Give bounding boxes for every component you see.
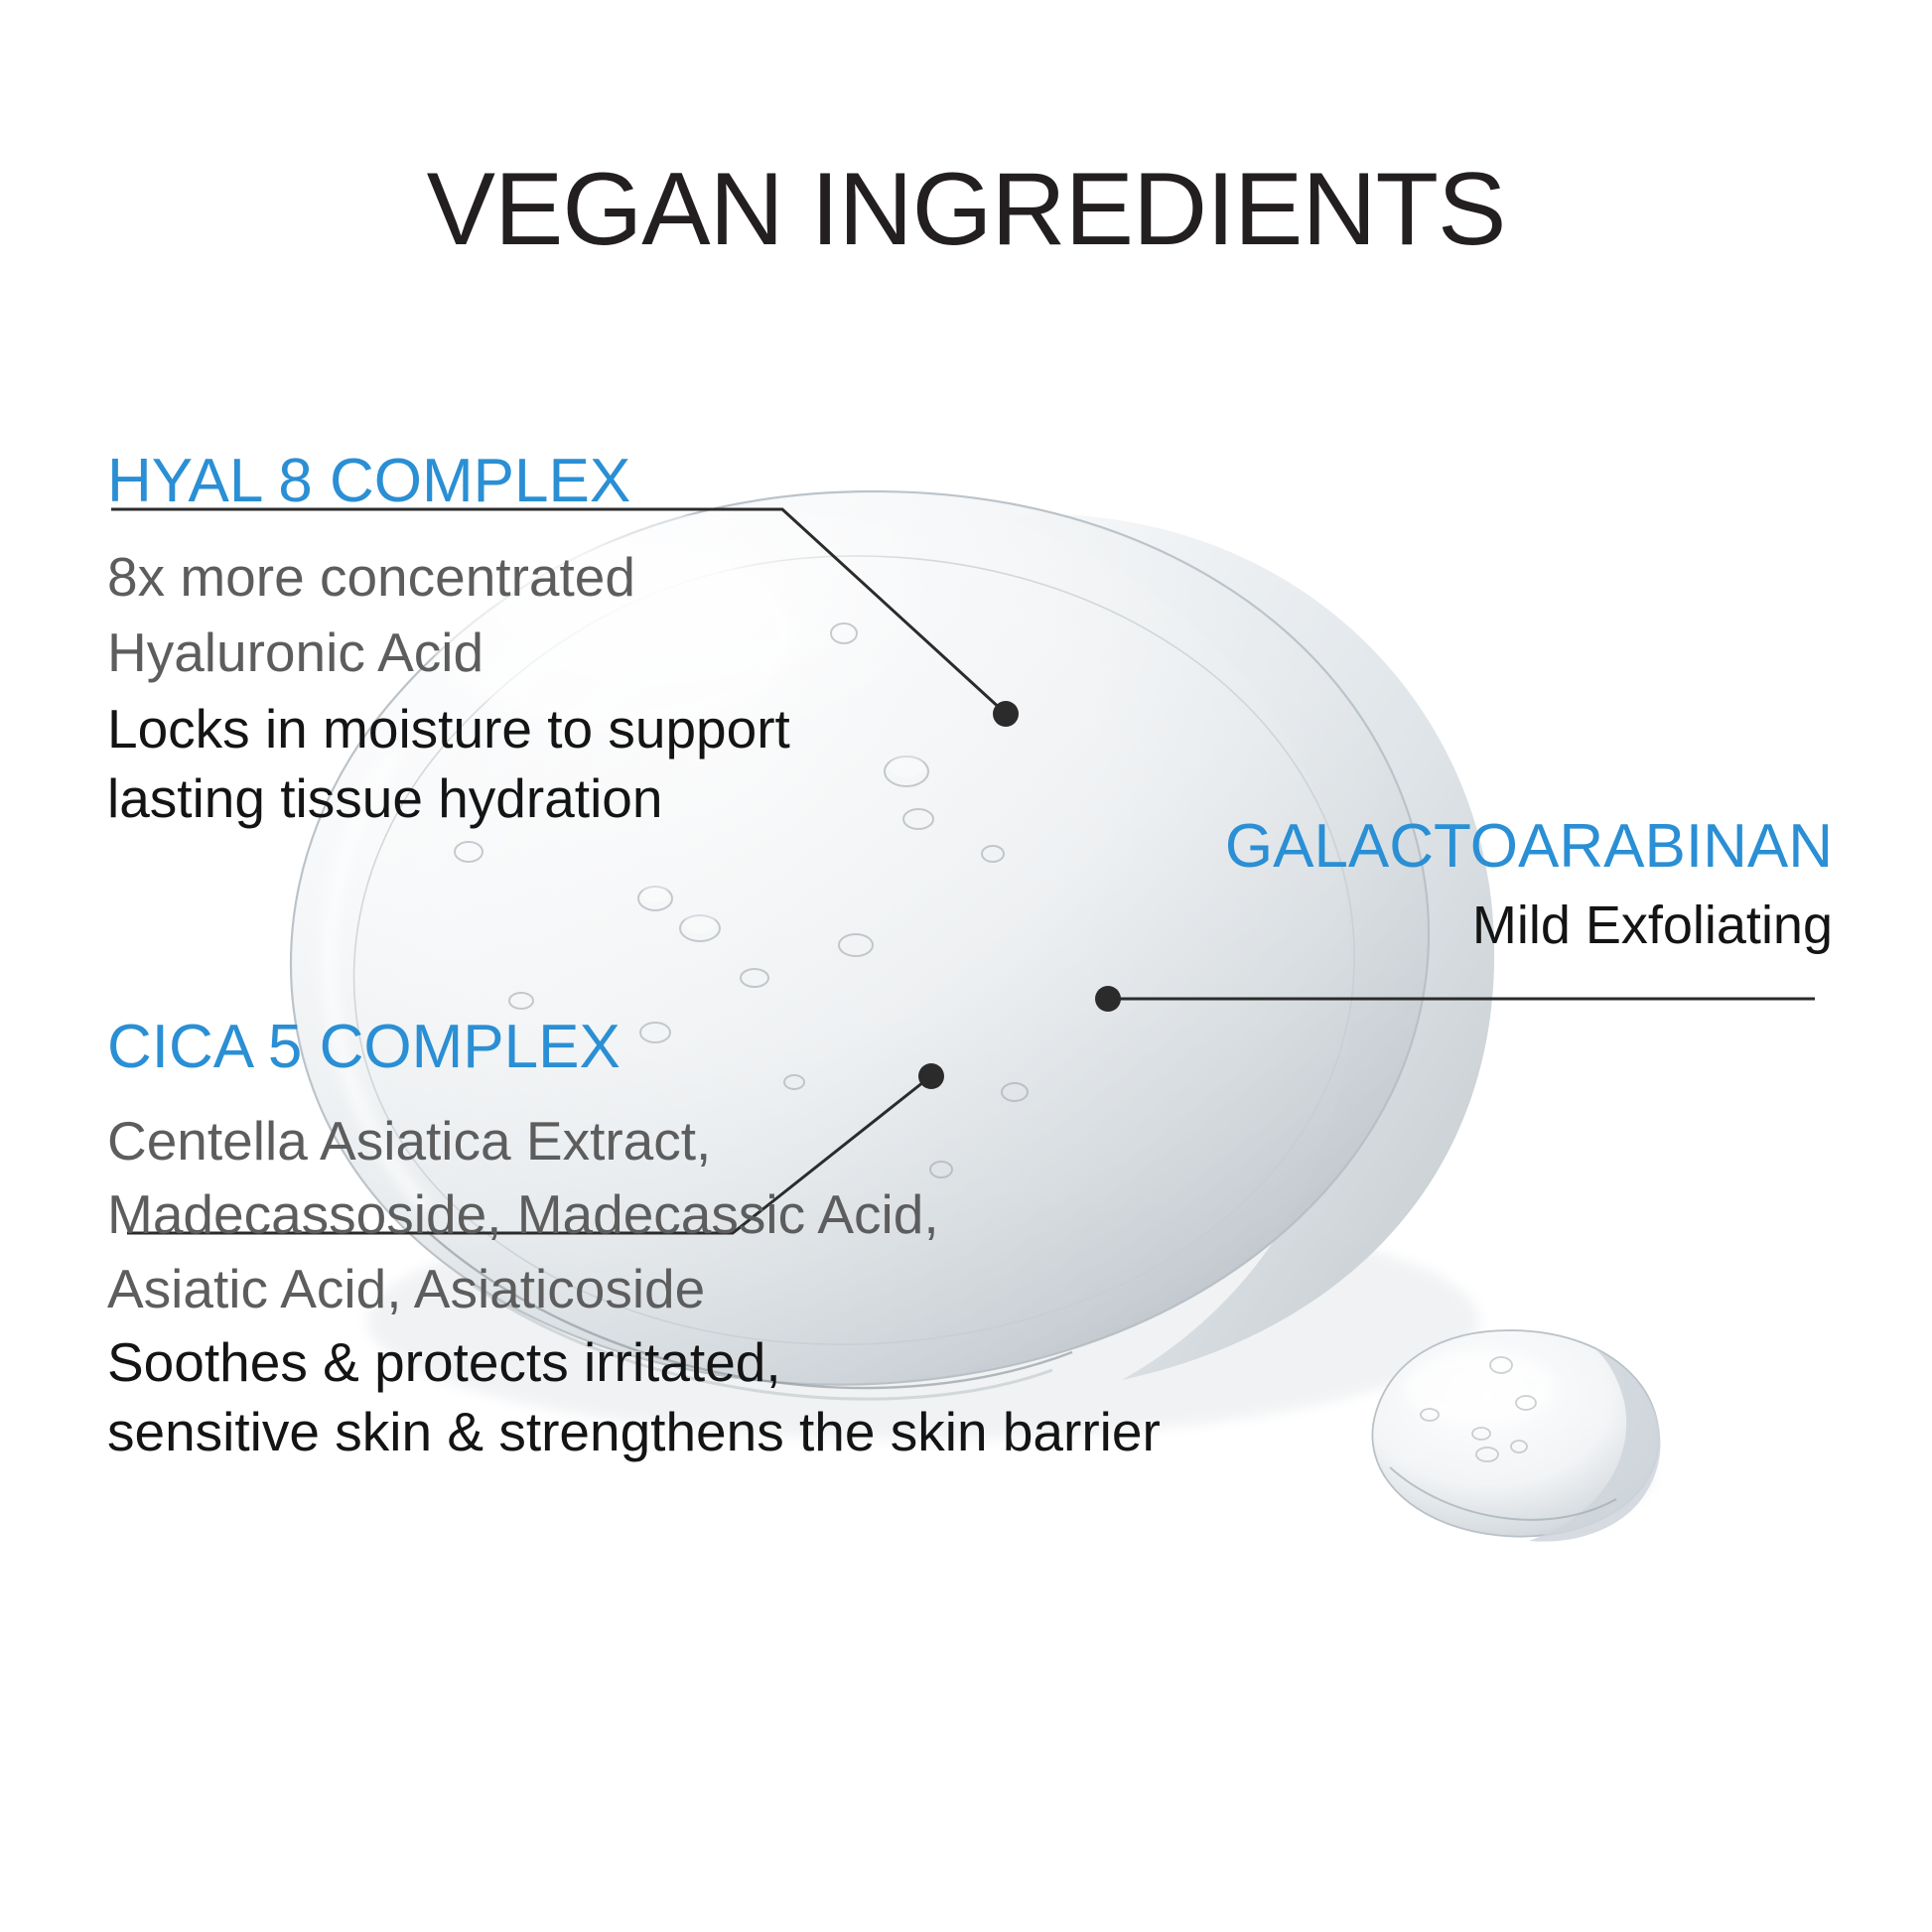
leader-line-galactoarabinan: [1095, 986, 1815, 1012]
callout-heading-hyal: HYAL 8 COMPLEX: [107, 449, 790, 514]
callout-ingredient-line: Hyaluronic Acid: [107, 618, 790, 687]
callout-cica-5-complex: CICA 5 COMPLEX Centella Asiatica Extract…: [107, 1015, 1161, 1467]
callout-heading-cica: CICA 5 COMPLEX: [107, 1015, 1161, 1080]
callout-ingredient-line: Centella Asiatica Extract,: [107, 1106, 1161, 1175]
leader-lines: [0, 0, 1932, 1932]
vegan-ingredients-infographic: VEGAN INGREDIENTS: [0, 0, 1932, 1932]
callout-benefit-line: Locks in moisture to support: [107, 694, 790, 763]
callout-benefit-line: Mild Exfoliating: [1225, 892, 1833, 960]
callout-hyal-8-complex: HYAL 8 COMPLEX 8x more concentrated Hyal…: [107, 449, 790, 833]
callout-benefit-line: Soothes & protects irritated,: [107, 1327, 1161, 1397]
callout-galactoarabinan: GALACTOARABINAN Mild Exfoliating: [1225, 814, 1833, 960]
callout-ingredient-line: Asiatic Acid, Asiaticoside: [107, 1254, 1161, 1323]
callout-ingredient-line: Madecassoside, Madecassic Acid,: [107, 1179, 1161, 1249]
callout-benefit-line: sensitive skin & strengthens the skin ba…: [107, 1397, 1161, 1466]
callout-benefit-line: lasting tissue hydration: [107, 763, 790, 833]
callout-ingredient-line: 8x more concentrated: [107, 542, 790, 612]
callout-heading-galactoarabinan: GALACTOARABINAN: [1225, 814, 1833, 880]
